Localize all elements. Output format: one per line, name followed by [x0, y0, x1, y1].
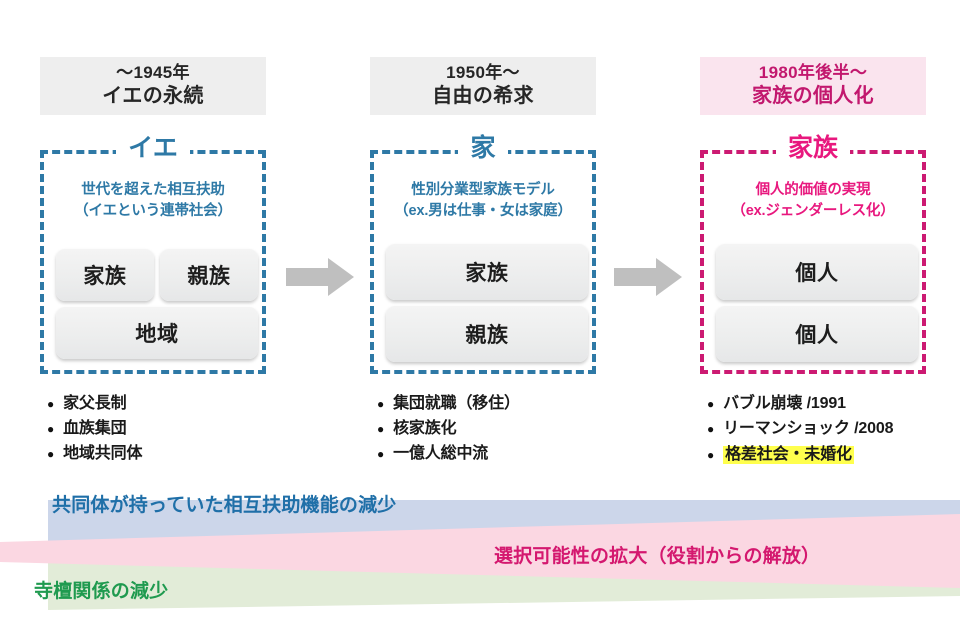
band-label-blue: 共同体が持っていた相互扶助機能の減少	[52, 490, 396, 517]
bullet-text: リーマンショック /2008	[723, 421, 893, 437]
bullet-dot-icon: ●	[377, 448, 384, 460]
bullet-text: 血族集団	[63, 421, 126, 437]
bullet-dot-icon: ●	[47, 398, 54, 410]
column-2-theme: 自由の希求	[432, 84, 534, 110]
list-item: ● 一億人総中流	[377, 446, 637, 462]
column-2-box-1: 家族	[386, 244, 588, 300]
arrow-stage1-to-stage2	[286, 258, 354, 296]
column-2-period: 1950年〜	[446, 62, 520, 84]
list-item: ● リーマンショック /2008	[707, 421, 960, 437]
column-2-group-subtitle: 性別分業型家族モデル （ex.男は仕事・女は家庭）	[380, 180, 586, 221]
column-2-subtitle-line-2: （ex.男は仕事・女は家庭）	[380, 201, 586, 222]
column-3-subtitle-line-1: 個人的価値の実現	[710, 180, 916, 201]
bullet-text: 一億人総中流	[393, 446, 488, 462]
bottom-trend-bands: 共同体が持っていた相互扶助機能の減少 選択可能性の拡大（役割からの解放） 寺檀関…	[0, 492, 960, 617]
column-2-subtitle-line-1: 性別分業型家族モデル	[380, 180, 586, 201]
list-item: ● 集団就職（移住）	[377, 396, 637, 412]
list-item: ● 核家族化	[377, 421, 637, 437]
column-1-header: 〜1945年 イエの永続	[40, 57, 266, 115]
bullet-dot-icon: ●	[377, 398, 384, 410]
column-1-group-box: イエ 世代を超えた相互扶助 （イエという連帯社会） 家族 親族 地域	[40, 150, 266, 374]
bullet-text-highlighted: 格差社会・未婚化	[723, 446, 854, 464]
column-3-theme: 家族の個人化	[752, 84, 874, 110]
band-label-green: 寺檀関係の減少	[34, 576, 168, 603]
bullet-dot-icon: ●	[377, 423, 384, 435]
column-1-subtitle-line-2: （イエという連帯社会）	[50, 201, 256, 222]
bullet-text: 集団就職（移住）	[393, 396, 520, 412]
list-item: ● 地域共同体	[47, 446, 287, 462]
arrow-stage2-to-stage3	[614, 258, 682, 296]
column-1-box-3: 地域	[56, 307, 258, 359]
bullet-dot-icon: ●	[47, 423, 54, 435]
column-2-group-title: 家	[374, 136, 592, 161]
column-2-group-box: 家 性別分業型家族モデル （ex.男は仕事・女は家庭） 家族 親族	[370, 150, 596, 374]
column-2-bullet-list: ● 集団就職（移住） ● 核家族化 ● 一億人総中流	[377, 396, 637, 471]
column-3-group-title: 家族	[704, 136, 922, 161]
diagram-canvas: 〜1945年 イエの永続 イエ 世代を超えた相互扶助 （イエという連帯社会） 家…	[0, 0, 960, 640]
column-3-period: 1980年後半〜	[759, 62, 867, 84]
column-3-bullet-list: ● バブル崩壊 /1991 ● リーマンショック /2008 ● 格差社会・未婚…	[707, 396, 960, 473]
bullet-dot-icon: ●	[707, 398, 714, 410]
column-3-group-subtitle: 個人的価値の実現 （ex.ジェンダーレス化）	[710, 180, 916, 221]
column-3-box-1: 個人	[716, 244, 918, 300]
bullet-dot-icon: ●	[707, 423, 714, 435]
bullet-text: バブル崩壊 /1991	[723, 396, 846, 412]
list-item: ● バブル崩壊 /1991	[707, 396, 960, 412]
list-item: ● 血族集団	[47, 421, 287, 437]
column-1-bullet-list: ● 家父長制 ● 血族集団 ● 地域共同体	[47, 396, 287, 471]
list-item: ● 家父長制	[47, 396, 287, 412]
bullet-text: 家父長制	[63, 396, 126, 412]
column-1-group-title: イエ	[44, 136, 262, 161]
column-3-group-box: 家族 個人的価値の実現 （ex.ジェンダーレス化） 個人 個人	[700, 150, 926, 374]
bullet-text: 地域共同体	[63, 446, 142, 462]
band-label-pink: 選択可能性の拡大（役割からの解放）	[494, 541, 820, 568]
column-3-box-2: 個人	[716, 306, 918, 362]
column-3-header: 1980年後半〜 家族の個人化	[700, 57, 926, 115]
column-1-theme: イエの永続	[102, 84, 203, 110]
column-1-box-1: 家族	[56, 249, 154, 301]
list-item: ● 格差社会・未婚化	[707, 446, 960, 464]
column-1-box-2: 親族	[160, 249, 258, 301]
bullet-dot-icon: ●	[47, 448, 54, 460]
column-2-box-2: 親族	[386, 306, 588, 362]
bullet-text: 核家族化	[393, 421, 456, 437]
column-1-group-subtitle: 世代を超えた相互扶助 （イエという連帯社会）	[50, 180, 256, 221]
column-3-subtitle-line-2: （ex.ジェンダーレス化）	[710, 201, 916, 222]
column-1-period: 〜1945年	[116, 62, 190, 84]
column-1-subtitle-line-1: 世代を超えた相互扶助	[50, 180, 256, 201]
column-2-header: 1950年〜 自由の希求	[370, 57, 596, 115]
bullet-dot-icon: ●	[707, 449, 714, 461]
